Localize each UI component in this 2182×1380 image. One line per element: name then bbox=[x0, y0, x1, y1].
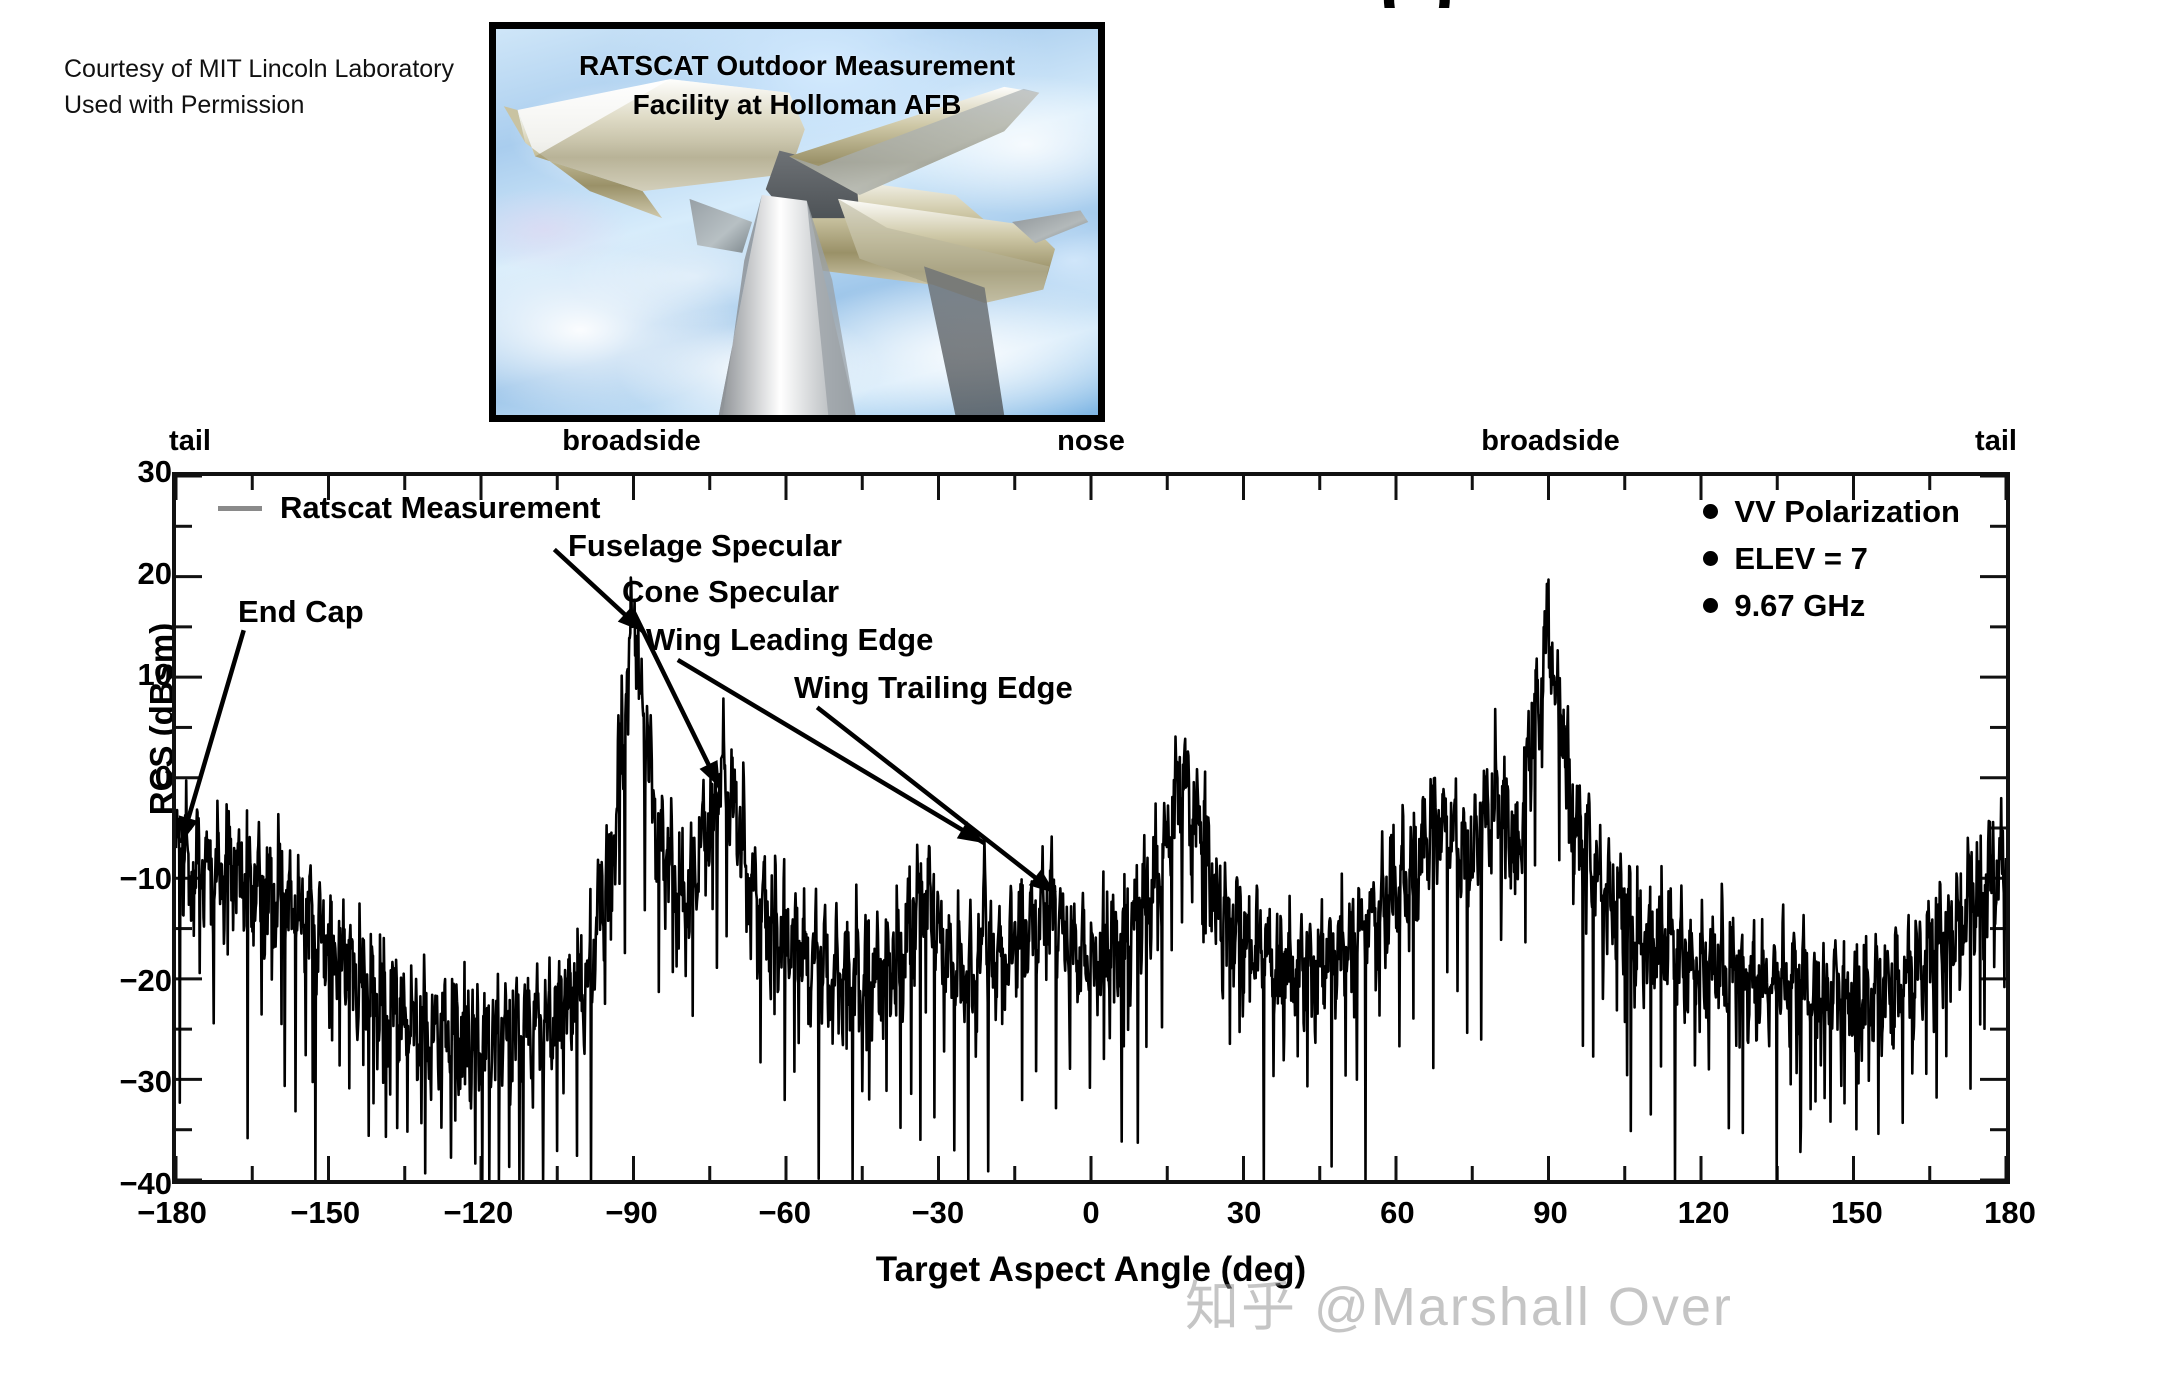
aspect-label-1: broadside bbox=[562, 425, 701, 458]
annotation-wing-leading-edge: Wing Leading Edge bbox=[646, 622, 933, 658]
plot-area: Ratscat Measurement VV Polarization ELEV… bbox=[172, 472, 2010, 1184]
x-tick--90: −90 bbox=[605, 1195, 658, 1231]
condition-label: VV Polarization bbox=[1734, 488, 1960, 535]
annotation-end-cap: End Cap bbox=[238, 594, 364, 630]
x-tick-90: 90 bbox=[1533, 1195, 1567, 1231]
annotation-fuselage-specular: Fuselage Specular bbox=[568, 528, 842, 564]
x-tick-150: 150 bbox=[1831, 1195, 1883, 1231]
x-tick--120: −120 bbox=[443, 1195, 513, 1231]
condition-item-1: ELEV = 7 bbox=[1703, 535, 1960, 582]
x-tick-30: 30 bbox=[1227, 1195, 1261, 1231]
rcs-chart: tailbroadsidenosebroadsidetail −40−30−20… bbox=[0, 420, 2182, 1380]
x-tick--60: −60 bbox=[758, 1195, 811, 1231]
series-line-swatch bbox=[218, 506, 262, 511]
photo-caption: RATSCAT Outdoor Measurement Facility at … bbox=[496, 47, 1098, 124]
condition-item-0: VV Polarization bbox=[1703, 488, 1960, 535]
aspect-label-0: tail bbox=[169, 425, 211, 458]
annotation-wing-trailing-edge: Wing Trailing Edge bbox=[794, 670, 1073, 706]
x-tick-120: 120 bbox=[1678, 1195, 1730, 1231]
y-tick--30: −30 bbox=[119, 1064, 172, 1100]
rcs-measurement-trace bbox=[176, 578, 2006, 1181]
photo-caption-line-1: RATSCAT Outdoor Measurement bbox=[496, 47, 1098, 86]
x-tick-180: 180 bbox=[1984, 1195, 2036, 1231]
x-tick--150: −150 bbox=[290, 1195, 360, 1231]
condition-label: 9.67 GHz bbox=[1734, 582, 1865, 629]
series-legend: Ratscat Measurement bbox=[218, 490, 600, 526]
x-axis-title: Target Aspect Angle (deg) bbox=[0, 1250, 2182, 1290]
x-tick-60: 60 bbox=[1380, 1195, 1414, 1231]
conditions-legend: VV Polarization ELEV = 7 9.67 GHz bbox=[1703, 488, 1960, 629]
x-tick-0: 0 bbox=[1082, 1195, 1099, 1231]
bullet-icon bbox=[1703, 551, 1718, 566]
photo-caption-line-2: Facility at Holloman AFB bbox=[496, 86, 1098, 125]
aspect-label-2: nose bbox=[1057, 425, 1125, 458]
x-tick--180: −180 bbox=[137, 1195, 207, 1231]
annotation-cone-specular: Cone Specular bbox=[622, 574, 839, 610]
bullet-icon bbox=[1703, 598, 1718, 613]
x-tick--30: −30 bbox=[912, 1195, 965, 1231]
aspect-label-4: tail bbox=[1975, 425, 2017, 458]
slide-title: ( ) bbox=[1380, 0, 2180, 8]
y-tick--20: −20 bbox=[119, 963, 172, 999]
condition-item-2: 9.67 GHz bbox=[1703, 582, 1960, 629]
series-legend-label: Ratscat Measurement bbox=[280, 490, 600, 526]
condition-label: ELEV = 7 bbox=[1734, 535, 1868, 582]
aspect-label-3: broadside bbox=[1481, 425, 1620, 458]
bullet-icon bbox=[1703, 504, 1718, 519]
y-tick-30: 30 bbox=[138, 454, 172, 490]
ratscat-photo-panel: RATSCAT Outdoor Measurement Facility at … bbox=[489, 22, 1105, 422]
watermark: 知乎 @Marshall Over bbox=[1185, 1262, 1733, 1341]
